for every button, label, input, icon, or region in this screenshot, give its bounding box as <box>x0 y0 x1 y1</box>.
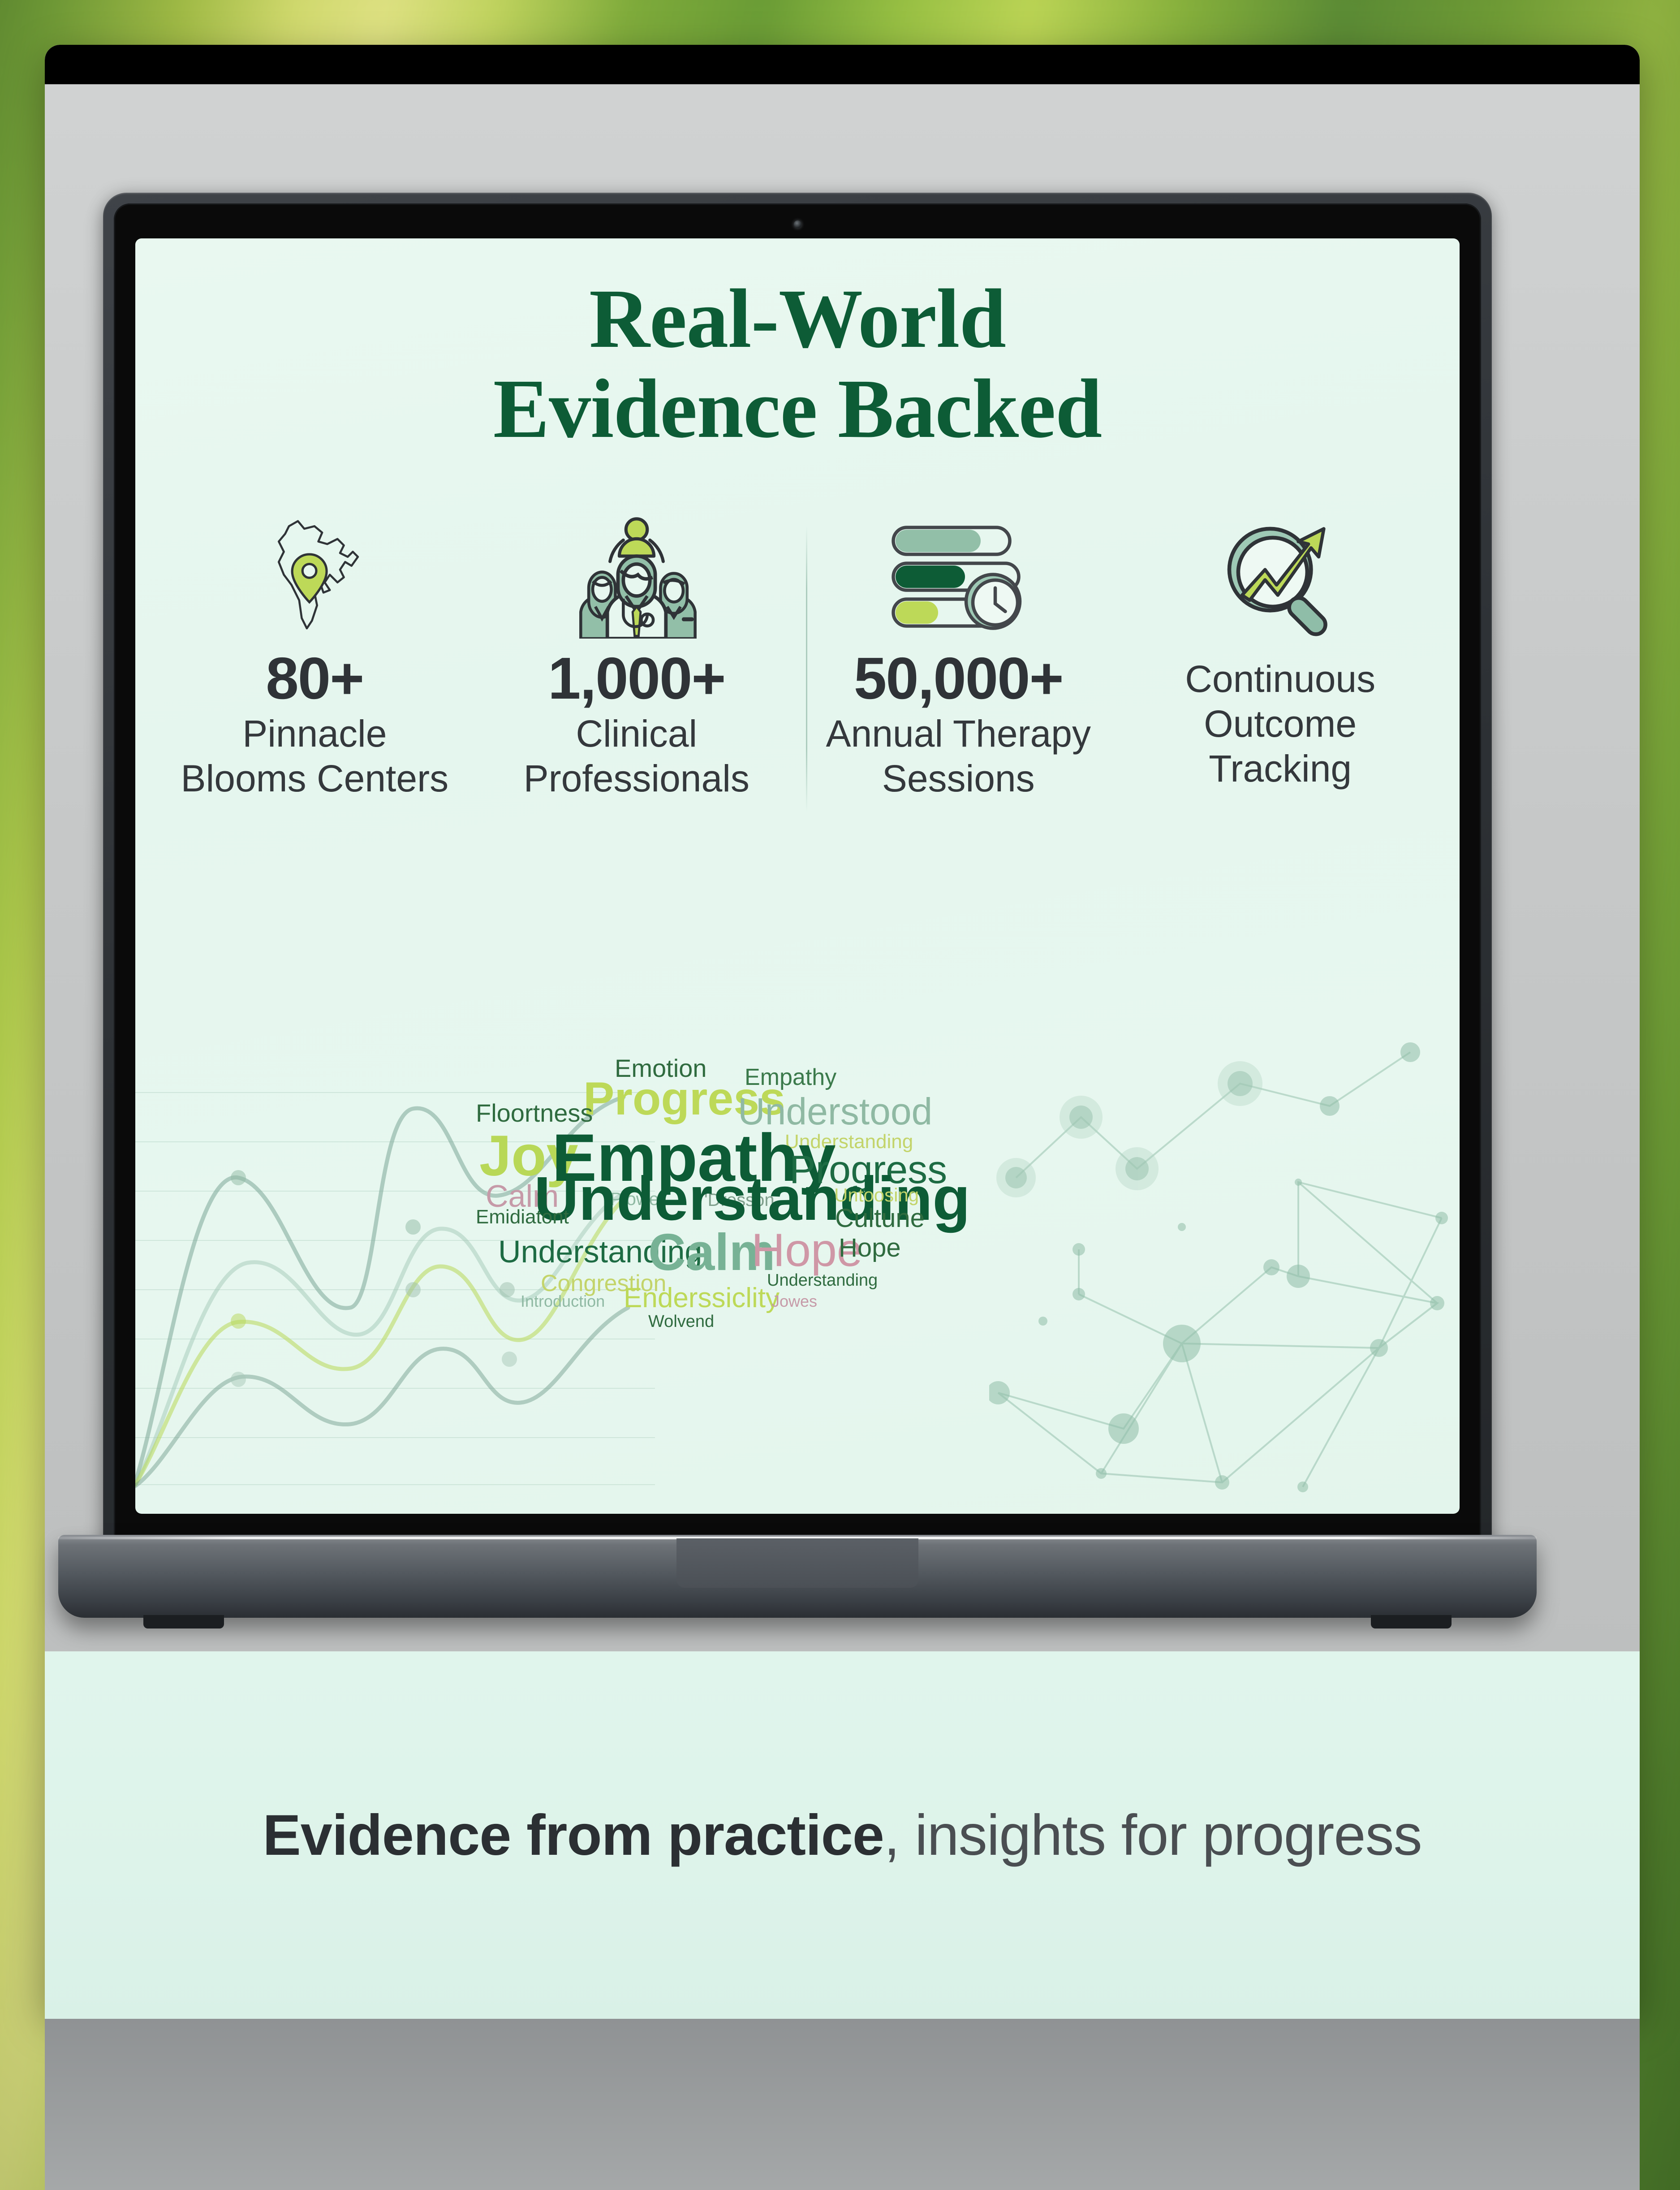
stat-label-line-2: Blooms Centers <box>162 757 467 799</box>
magnifier-trend-icon <box>1128 507 1433 642</box>
laptop-mockup: Real-World Evidence Backed <box>58 193 1537 1618</box>
title-line-2: Evidence Backed <box>135 363 1460 454</box>
clinical-team-icon <box>484 507 789 642</box>
stat-label-line-3: Tracking <box>1128 747 1433 790</box>
progress-bars-clock-icon <box>806 507 1111 642</box>
stat-label-line-1: Continuous <box>1128 658 1433 700</box>
word-cloud-item: Understanding <box>767 1272 878 1289</box>
stats-divider <box>806 525 807 812</box>
stat-label-line-2: Outcome <box>1128 703 1433 745</box>
stats-row: 80+ Pinnacle Blooms Centers <box>162 507 1433 799</box>
stat-label-line-1: Pinnacle <box>162 713 467 755</box>
caption-band: Evidence from practice, insights for pro… <box>45 1651 1640 2019</box>
title-line-1: Real-World <box>135 273 1460 363</box>
stat-card-sessions: 50,000+ Annual Therapy Sessions <box>806 507 1111 799</box>
word-cloud-item: Wolvend <box>648 1313 714 1330</box>
laptop-foot-left <box>143 1615 224 1628</box>
screen-bezel: Real-World Evidence Backed <box>114 203 1481 1541</box>
webcam-icon <box>794 220 801 228</box>
laptop-base <box>58 1535 1537 1618</box>
stat-card-professionals: 1,000+ Clinical Professionals <box>484 507 789 799</box>
stat-card-tracking: Continuous Outcome Tracking <box>1128 507 1433 790</box>
laptop-lid: Real-World Evidence Backed <box>103 193 1492 1551</box>
laptop-foot-right <box>1371 1615 1452 1628</box>
word-cloud-item: Emidiatont <box>476 1207 569 1227</box>
india-map-pin-icon <box>162 507 467 642</box>
stat-label-line-2: Professionals <box>484 757 789 799</box>
caption-light: , insights for progress <box>884 1803 1422 1867</box>
caption-text: Evidence from practice, insights for pro… <box>263 1802 1422 1868</box>
stat-label-line-2: Sessions <box>806 757 1111 799</box>
word-cloud-item: Hope <box>839 1235 901 1261</box>
word-cloud-item: Jowes <box>771 1293 817 1309</box>
page-title: Real-World Evidence Backed <box>135 273 1460 454</box>
visual-band: EmotionEmpathyProgressFloortnessUndersto… <box>135 1030 1460 1514</box>
stat-label-line-1: Annual Therapy <box>806 713 1111 755</box>
caption-bold: Evidence from practice <box>263 1803 884 1867</box>
card-bottom-strip <box>45 2019 1640 2190</box>
stat-label-line-1: Clinical <box>484 713 789 755</box>
stat-value: 80+ <box>162 647 467 710</box>
card-top-bar <box>45 45 1640 84</box>
stat-value: 1,000+ <box>484 647 789 710</box>
laptop-screen: Real-World Evidence Backed <box>135 238 1460 1514</box>
word-cloud-item: Introduction <box>521 1293 605 1309</box>
stat-value: 50,000+ <box>806 647 1111 710</box>
stat-card-centers: 80+ Pinnacle Blooms Centers <box>162 507 467 799</box>
word-cloud-item: Enderssiclity <box>624 1284 780 1312</box>
word-cloud: EmotionEmpathyProgressFloortnessUndersto… <box>476 1048 1182 1509</box>
base-notch <box>676 1538 918 1588</box>
word-cloud-item: Untoosing <box>834 1186 919 1205</box>
